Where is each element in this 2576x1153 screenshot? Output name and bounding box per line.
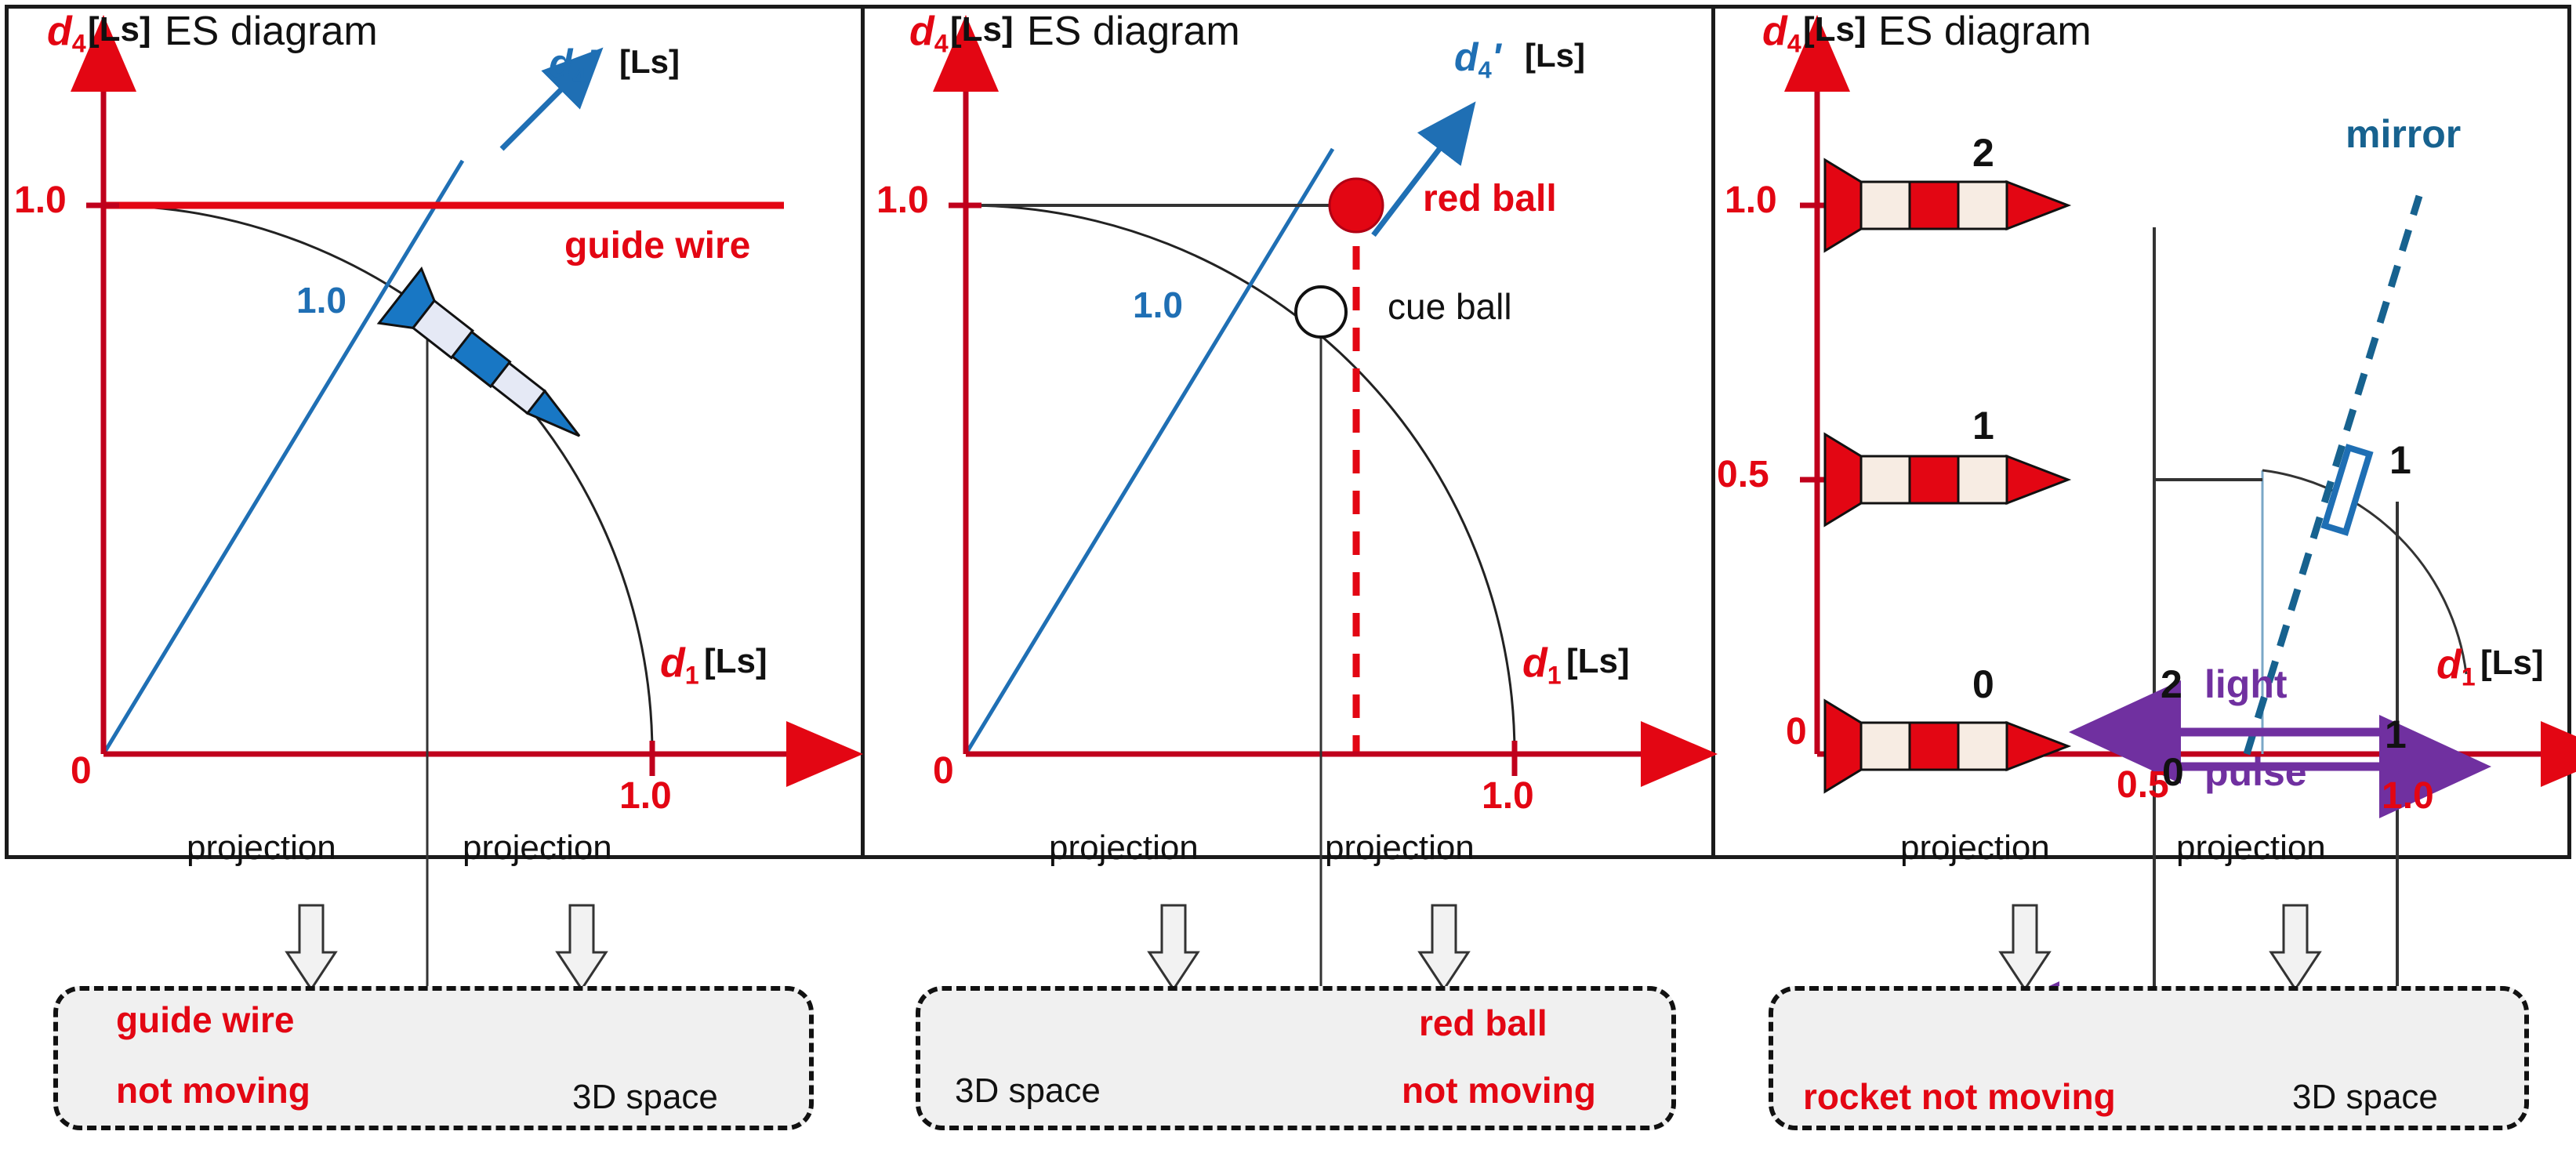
- panel3-rocket-mid-count: 1: [1972, 406, 1994, 445]
- panel2-prime-axis-unit: [Ls]: [1525, 39, 1585, 72]
- panel1-callout-space-label: 3D space: [572, 1080, 718, 1115]
- panel1-callout-line2: not moving: [116, 1072, 310, 1108]
- panel3-pulse-back-count: 2: [2161, 665, 2182, 704]
- panel2-callout-line2: not moving: [1402, 1072, 1596, 1108]
- panel2-diagram-title: ES diagram: [1027, 11, 1240, 52]
- panel2-prime-tick-label: 1.0: [1133, 287, 1183, 323]
- panel1-y-axis-unit: [Ls]: [88, 13, 151, 47]
- panel3-projection-left-label: projection: [1900, 831, 2050, 865]
- panel3-callout-space-label: 3D space: [2292, 1080, 2438, 1115]
- panel2-callout-space-label: 3D space: [955, 1074, 1101, 1108]
- panel3-rocket-bottom-count: 0: [1972, 665, 1994, 704]
- panel3-x-axis-unit: [Ls]: [2480, 646, 2544, 680]
- projection-arrow-right: [557, 905, 606, 989]
- panel2-callout-line1: red ball: [1419, 1005, 1547, 1041]
- panel2-origin-label: 0: [933, 752, 954, 790]
- panel3-projection-right-label: projection: [2176, 831, 2326, 865]
- panel2-projection-left-label: projection: [1049, 831, 1199, 865]
- panel2-red-ball-label: red ball: [1423, 180, 1557, 218]
- panel3-rocket-top-count: 2: [1972, 133, 1994, 172]
- panel1-callout-line1: guide wire: [116, 1002, 294, 1038]
- panel1-projection-left-label: projection: [187, 831, 336, 865]
- panel1-projection-right-label: projection: [463, 831, 612, 865]
- projection-arrow-left-3: [2001, 905, 2049, 989]
- panel1-guide-wire-label: guide wire: [564, 227, 750, 265]
- projection-arrow-left: [287, 905, 336, 989]
- panel2-x-axis-unit: [Ls]: [1566, 644, 1630, 679]
- panel1-y-axis-label: d4: [47, 11, 86, 56]
- panel3-callout-line1: rocket not moving: [1803, 1079, 2116, 1115]
- d4-prime-arrow: [502, 86, 564, 149]
- projection-arrow-right-2: [1420, 905, 1468, 989]
- panel3-pulse-start-count: 0: [2162, 752, 2184, 792]
- panel1-origin-label: 0: [71, 752, 92, 790]
- d4-prime-axis-line: [103, 161, 463, 754]
- rocket-mid: [1825, 434, 2068, 525]
- projection-arrow-left-2: [1149, 905, 1198, 989]
- panel3-mirror-label: mirror: [2346, 114, 2461, 154]
- panel2-projection-right-label: projection: [1325, 831, 1475, 865]
- rocket-blue: [379, 269, 600, 463]
- panel3-x-axis-label: d1: [2436, 644, 2476, 690]
- panel3-pulse-end-count: 1: [2385, 715, 2407, 754]
- panel2-y-axis-unit: [Ls]: [950, 13, 1014, 47]
- panel1-prime-axis-unit: [Ls]: [619, 45, 680, 78]
- panel1-diagram-title: ES diagram: [165, 11, 378, 52]
- panel3-y-tick-top: 1.0: [1725, 182, 1777, 219]
- panel2-x-axis-label: d1: [1522, 643, 1562, 688]
- d4-prime-axis-line-2: [966, 149, 1333, 754]
- figure-root: d4 [Ls] ES diagram d4' [Ls] 1.0 guide wi…: [0, 0, 2576, 1153]
- red-ball-marker: [1330, 179, 1383, 232]
- panel3-origin-label: 0: [1786, 713, 1807, 751]
- panel1-x-tick-label: 1.0: [619, 778, 672, 815]
- rocket-bottom: [1825, 701, 2068, 792]
- panel3-y-axis-label: d4: [1762, 11, 1801, 56]
- panel2-y-tick-label: 1.0: [876, 182, 929, 219]
- panel3-mirror-count: 1: [2389, 441, 2411, 480]
- panel1-x-axis-unit: [Ls]: [704, 644, 767, 679]
- panel1-y-tick-label: 1.0: [14, 182, 67, 219]
- panel2-y-axis-label: d4: [909, 11, 949, 56]
- panel3-x-tick-one: 1.0: [2382, 778, 2434, 815]
- panel-2-graphics: [862, 0, 1713, 1153]
- panel2-cue-ball-label: cue ball: [1388, 288, 1512, 325]
- unit-arc: [103, 205, 652, 754]
- cue-ball-marker: [1296, 287, 1346, 337]
- panel3-diagram-title: ES diagram: [1878, 11, 2092, 52]
- panel2-prime-axis-label: d4': [1454, 38, 1501, 82]
- panel3-y-axis-unit: [Ls]: [1803, 13, 1867, 47]
- panel2-x-tick-label: 1.0: [1482, 778, 1534, 815]
- panel3-y-tick-mid: 0.5: [1717, 456, 1769, 494]
- panel1-prime-axis-label: d4': [549, 44, 596, 88]
- panel3-x-tick-half: 0.5: [2117, 767, 2169, 804]
- panel3-light-label: light: [2204, 665, 2288, 704]
- panel1-x-axis-label: d1: [660, 643, 699, 688]
- panel-3-graphics: [1714, 0, 2576, 1153]
- panel1-prime-tick-label: 1.0: [296, 282, 346, 318]
- rocket-top: [1825, 160, 2068, 251]
- panel3-pulse-label: pulse: [2204, 752, 2307, 792]
- projection-arrow-right-3: [2271, 905, 2320, 989]
- panel-1-graphics: [0, 0, 862, 1153]
- mirror-arc: [2262, 470, 2466, 674]
